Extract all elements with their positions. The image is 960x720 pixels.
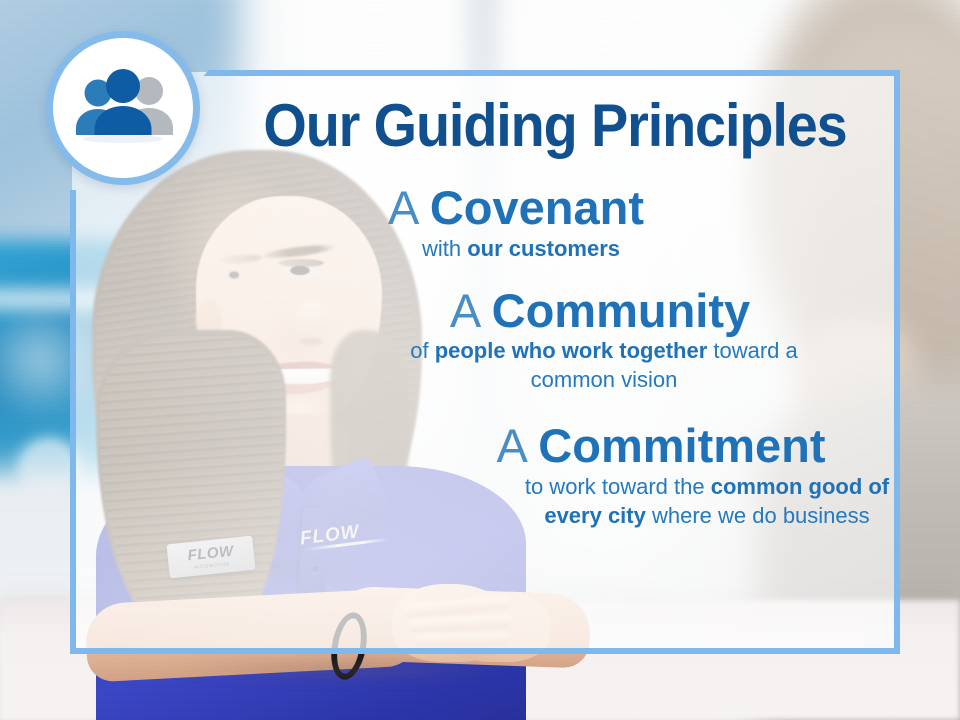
principle-article: A — [388, 181, 417, 234]
principle-item: A Covenant with our customers — [300, 182, 890, 263]
principle-keyword: Covenant — [430, 181, 644, 234]
polo-button — [312, 566, 319, 573]
banner-canvas: FLOW AUTOMOTIVE FLOW — [0, 0, 960, 720]
employee-eye-far — [222, 269, 244, 281]
employee-hair-front-strands — [100, 336, 284, 628]
frame-border-right — [894, 70, 900, 654]
page-title: Our Guiding Principles — [239, 96, 871, 156]
principles-list: A Covenant with our customers A Communit… — [300, 182, 890, 534]
frame-border-top — [215, 70, 900, 76]
principle-item: A Commitment to work toward the common g… — [300, 420, 890, 530]
people-group-icon — [70, 69, 176, 147]
principle-article: A — [450, 284, 479, 337]
principle-article: A — [496, 419, 525, 472]
principle-title: A Commitment — [432, 420, 890, 472]
employee-finger — [414, 632, 510, 647]
principle-subtitle: with our customers — [302, 234, 730, 263]
principle-title: A Covenant — [302, 182, 730, 234]
principle-subtitle: of people who work together toward a com… — [370, 336, 814, 394]
frame-border-bottom — [70, 648, 900, 654]
forearm-desk-shadow — [110, 662, 580, 686]
principle-title: A Community — [370, 285, 830, 337]
principle-subtitle: to work toward the common good of every … — [432, 472, 902, 530]
frame-border-left — [70, 190, 76, 654]
principle-keyword: Community — [492, 284, 751, 337]
principle-item: A Community of people who work together … — [300, 285, 890, 395]
people-group-badge — [46, 31, 200, 185]
principle-keyword: Commitment — [538, 419, 825, 472]
